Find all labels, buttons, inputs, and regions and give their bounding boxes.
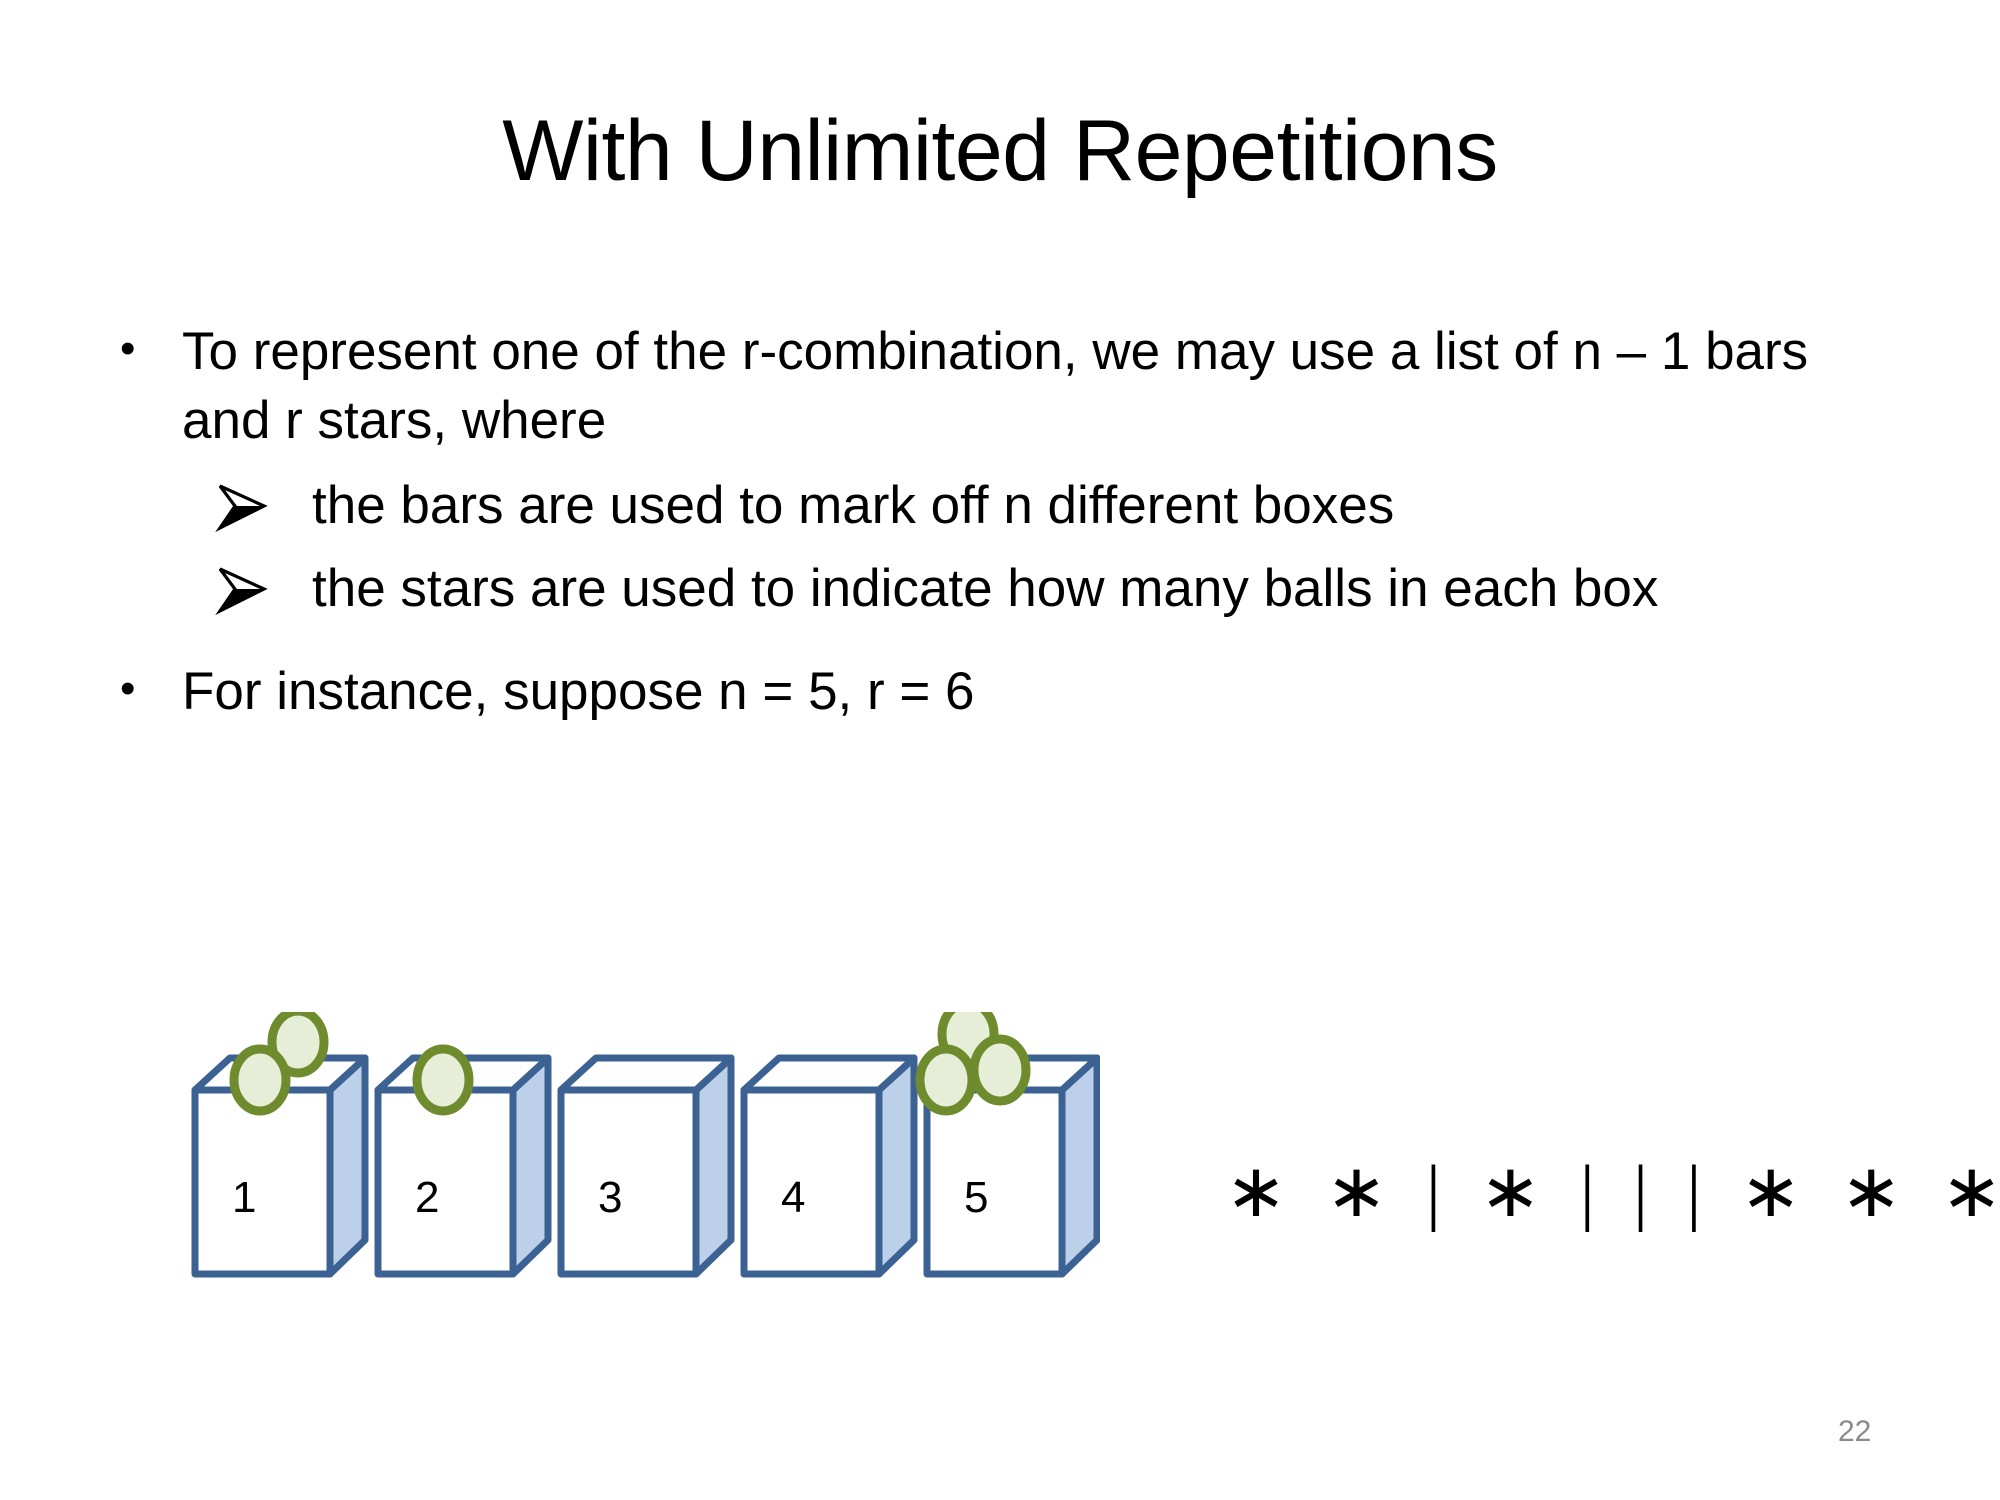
box-front-face (927, 1090, 1062, 1274)
box-side-face (879, 1058, 914, 1274)
box-front-face (378, 1090, 513, 1274)
box-side-face (513, 1058, 548, 1274)
sub-bullet-item-1: the bars are used to mark off n differen… (214, 472, 1910, 541)
box-top-face (744, 1058, 914, 1090)
box-label: 5 (964, 1173, 988, 1222)
sub-bullet-text-1: the bars are used to mark off n differen… (312, 472, 1910, 541)
box-group-1: 1 (195, 1012, 365, 1274)
slide-body: • To represent one of the r-combination,… (110, 318, 1910, 732)
slide-canvas: With Unlimited Repetitions • To represen… (0, 0, 2000, 1500)
box-group-5: 5 (920, 1012, 1097, 1274)
box-label: 2 (415, 1173, 439, 1222)
boxes-and-balls-figure: 1 2 3 (0, 1000, 2000, 1340)
bullet-text-1: To represent one of the r-combination, w… (182, 318, 1822, 456)
ball (234, 1049, 286, 1111)
bullet-item-2: • For instance, suppose n = 5, r = 6 (110, 658, 1910, 727)
page-title: With Unlimited Repetitions (0, 108, 2000, 194)
box-front-face (195, 1090, 330, 1274)
arrow-bullet-icon (214, 472, 312, 534)
box-side-face (1062, 1058, 1097, 1274)
stars-and-bars-notation: ∗ ∗ | ∗ | | | ∗ ∗ ∗ (1225, 1148, 2000, 1235)
box-side-face (330, 1058, 365, 1274)
bullet-text-2: For instance, suppose n = 5, r = 6 (182, 658, 1822, 727)
bullet-marker-icon: • (110, 658, 182, 720)
box-group-4: 4 (744, 1058, 914, 1274)
boxes-diagram: 1 2 3 (180, 1012, 1100, 1342)
box-top-face (561, 1058, 731, 1090)
page-number: 22 (1838, 1415, 1871, 1449)
box-label: 3 (598, 1173, 622, 1222)
box-label: 1 (232, 1173, 256, 1222)
box-label: 4 (781, 1173, 805, 1222)
bullet-item-1: • To represent one of the r-combination,… (110, 318, 1910, 456)
sub-bullet-item-2: the stars are used to indicate how many … (214, 555, 1910, 624)
box-front-face (744, 1090, 879, 1274)
bullet-marker-icon: • (110, 318, 182, 380)
box-front-face (561, 1090, 696, 1274)
sub-bullet-group: the bars are used to mark off n differen… (214, 472, 1910, 624)
arrow-bullet-icon (214, 555, 312, 617)
ball (974, 1039, 1026, 1101)
sub-bullet-text-2: the stars are used to indicate how many … (312, 555, 1910, 624)
box-side-face (696, 1058, 731, 1274)
box-group-2: 2 (378, 1049, 548, 1274)
ball (417, 1049, 469, 1111)
box-group-3: 3 (561, 1058, 731, 1274)
ball (920, 1049, 972, 1111)
